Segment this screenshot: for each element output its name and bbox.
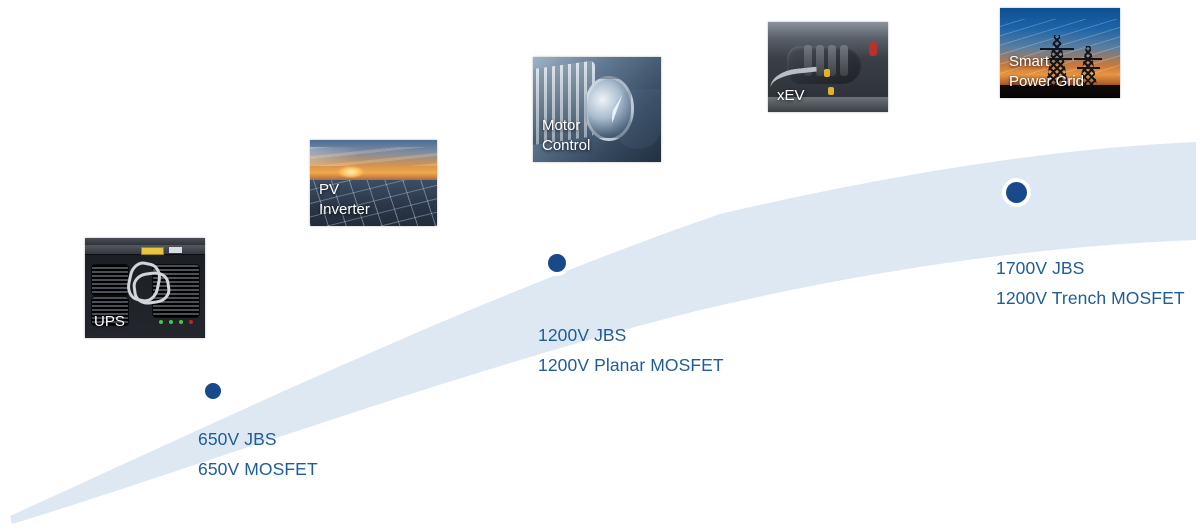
motor-cooling-fan (612, 89, 661, 150)
smart-power-grid-caption: Smart Power Grid (1009, 52, 1084, 92)
milestone-label-1700v: 1700V JBS 1200V Trench MOSFET (996, 253, 1185, 313)
ups-fan-1 (91, 264, 129, 296)
roadmap-diagram: 650V JBS 650V MOSFET 1200V JBS 1200V Pla… (0, 0, 1200, 530)
milestone-dot-650v[interactable] (205, 383, 221, 399)
motor-caption-line2: Control (542, 136, 590, 156)
ups-photo[interactable]: UPS (85, 238, 205, 338)
xev-yellow-cap-1 (824, 69, 830, 77)
milestone-1700v-line2: 1200V Trench MOSFET (996, 283, 1185, 313)
xev-caption: xEV (777, 86, 805, 106)
ups-white-label (169, 247, 182, 253)
xev-caption-line1: xEV (777, 86, 805, 106)
ups-led-green-1 (159, 320, 163, 324)
xev-rib-4 (840, 45, 848, 76)
milestone-1700v-line1: 1700V JBS (996, 253, 1185, 283)
milestone-dot-1200v[interactable] (548, 254, 566, 272)
milestone-label-650v: 650V JBS 650V MOSFET (198, 424, 318, 484)
pv-sun (338, 166, 364, 178)
motor-control-photo[interactable]: Motor Control (533, 57, 661, 162)
pylon-left-arm-1 (1040, 48, 1075, 50)
motor-control-caption: Motor Control (542, 116, 590, 156)
pv-clouds (310, 147, 437, 166)
motor-caption-line1: Motor (542, 116, 590, 136)
xev-photo[interactable]: xEV (768, 22, 888, 112)
pv-caption-line2: Inverter (319, 200, 370, 220)
pv-inverter-caption: PV Inverter (319, 180, 370, 220)
milestone-1200v-line2: 1200V Planar MOSFET (538, 350, 724, 380)
milestone-650v-line1: 650V JBS (198, 424, 318, 454)
ups-caption-line1: UPS (94, 312, 125, 332)
xev-rib-2 (816, 45, 824, 76)
grid-caption-line2: Power Grid (1009, 72, 1084, 92)
grid-caption-line1: Smart (1009, 52, 1084, 72)
milestone-1200v-line1: 1200V JBS (538, 320, 724, 350)
milestone-650v-line2: 650V MOSFET (198, 454, 318, 484)
xev-yellow-cap-2 (828, 87, 834, 95)
smart-power-grid-photo[interactable]: Smart Power Grid (1000, 8, 1120, 98)
ups-caption: UPS (94, 312, 125, 332)
ups-led-red (189, 320, 193, 324)
milestone-dot-1700v[interactable] (1006, 182, 1027, 203)
ups-yellow-label (141, 247, 163, 255)
pv-caption-line1: PV (319, 180, 370, 200)
ups-led-green-2 (169, 320, 173, 324)
pv-inverter-photo[interactable]: PV Inverter (310, 140, 437, 226)
milestone-label-1200v: 1200V JBS 1200V Planar MOSFET (538, 320, 724, 380)
xev-red-component (869, 42, 877, 56)
ups-led-green-3 (179, 320, 183, 324)
